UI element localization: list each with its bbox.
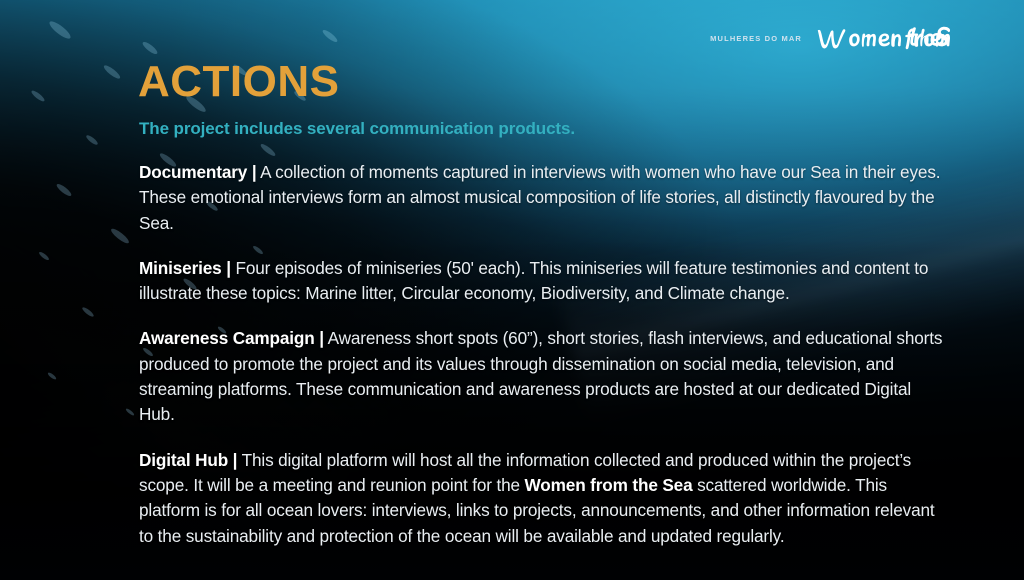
paragraph-lead-miniseries: Miniseries |	[139, 258, 231, 278]
paragraph-awareness-campaign: Awareness Campaign | Awareness short spo…	[139, 326, 944, 427]
paragraph-miniseries: Miniseries | Four episodes of miniseries…	[139, 256, 944, 307]
paragraph-emphasis-women-from-the-sea: Women from the Sea	[525, 475, 693, 495]
brand-tagline: MULHERES DO MAR	[710, 34, 802, 44]
paragraph-documentary: Documentary | A collection of moments ca…	[139, 160, 944, 236]
paragraph-lead-documentary: Documentary |	[139, 162, 256, 182]
presentation-slide: MULHERES DO MAR	[0, 0, 1024, 580]
brand-wordmark-women-from-the-sea	[816, 24, 954, 54]
paragraph-text-documentary: A collection of moments captured in inte…	[139, 162, 940, 233]
page-subtitle: The project includes several communicati…	[139, 119, 575, 139]
brand-logo: MULHERES DO MAR	[710, 24, 954, 54]
paragraph-lead-digital-hub: Digital Hub |	[139, 450, 237, 470]
page-title: ACTIONS	[138, 60, 340, 104]
paragraph-digital-hub: Digital Hub | This digital platform will…	[139, 448, 944, 549]
slide-content: MULHERES DO MAR	[0, 0, 1024, 580]
paragraph-text-miniseries: Four episodes of miniseries (50' each). …	[139, 258, 928, 303]
body-content: Documentary | A collection of moments ca…	[139, 160, 944, 549]
paragraph-lead-awareness-campaign: Awareness Campaign |	[139, 328, 324, 348]
